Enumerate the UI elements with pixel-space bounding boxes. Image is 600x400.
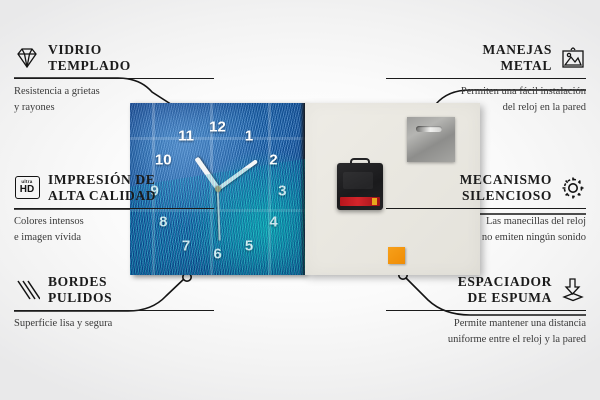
feature-description: Las manecillas del reloj no emiten ningú… xyxy=(386,214,586,244)
gear-icon xyxy=(560,175,586,201)
clock-numeral-1: 1 xyxy=(245,128,253,143)
feature-divider xyxy=(386,78,586,80)
feature-heading: BORDES PULIDOS xyxy=(14,274,214,306)
feature-description: Permiten una fácil instalación del reloj… xyxy=(386,84,586,114)
product-infographic: 12 1 2 3 4 5 6 7 8 9 10 11 xyxy=(0,0,600,400)
feature-desc-line2: e imagen vívida xyxy=(14,232,81,243)
quartz-mechanism xyxy=(337,163,383,210)
clock-minute-hand xyxy=(216,159,257,190)
feature-manejas-metal: MANEJAS METAL Permiten una fácil instala… xyxy=(386,42,586,115)
feature-title-line1: MANEJAS xyxy=(483,42,552,57)
feature-title-line1: MECANISMO xyxy=(460,172,552,187)
ultra-hd-badge: ultra HD xyxy=(15,176,40,199)
feature-title-line2: PULIDOS xyxy=(48,290,112,305)
metal-hanger-plate xyxy=(407,117,455,162)
feature-title-line2: DE ESPUMA xyxy=(467,290,552,305)
clock-numeral-2: 2 xyxy=(269,152,277,167)
feature-heading: MANEJAS METAL xyxy=(386,42,586,74)
feature-desc-line1: Las manecillas del reloj xyxy=(486,216,586,227)
clock-numeral-6: 6 xyxy=(213,247,221,262)
feature-title: ESPACIADOR DE ESPUMA xyxy=(458,274,552,306)
feature-divider xyxy=(14,78,214,80)
feature-title-line2: TEMPLADO xyxy=(48,58,131,73)
clock-numeral-4: 4 xyxy=(269,214,277,229)
feature-divider xyxy=(14,208,214,210)
feature-title: IMPRESIÓN DE ALTA CALIDAD xyxy=(48,172,156,204)
feature-desc-line1: Superficie lisa y segura xyxy=(14,318,112,329)
feature-bordes-pulidos: BORDES PULIDOS Superficie lisa y segura xyxy=(14,274,214,332)
feature-divider xyxy=(386,208,586,210)
feature-description: Colores intensos e imagen vívida xyxy=(14,214,214,244)
feature-divider xyxy=(14,310,214,312)
battery xyxy=(340,197,380,206)
feature-title-line1: IMPRESIÓN DE xyxy=(48,172,155,187)
feature-heading: ultra HD IMPRESIÓN DE ALTA CALIDAD xyxy=(14,172,214,204)
feature-desc-line1: Permiten una fácil instalación xyxy=(461,86,586,97)
feature-description: Resistencia a grietas y rayones xyxy=(14,84,214,114)
polished-edges-icon xyxy=(14,277,40,303)
feature-impresion-alta-calidad: ultra HD IMPRESIÓN DE ALTA CALIDAD Color… xyxy=(14,172,214,245)
feature-description: Superficie lisa y segura xyxy=(14,316,214,331)
clock-numeral-10: 10 xyxy=(155,152,172,167)
diamond-icon xyxy=(14,45,40,71)
mechanism-body-detail xyxy=(343,172,373,189)
feature-desc-line2: no emiten ningún sonido xyxy=(482,232,586,243)
feature-heading: ESPACIADOR DE ESPUMA xyxy=(386,274,586,306)
clock-second-hand xyxy=(217,189,220,241)
feature-vidrio-templado: VIDRIO TEMPLADO Resistencia a grietas y … xyxy=(14,42,214,115)
feature-divider xyxy=(386,310,586,312)
feature-title-line1: BORDES xyxy=(48,274,107,289)
feature-title-line1: ESPACIADOR xyxy=(458,274,552,289)
clock-center-pin xyxy=(215,186,221,192)
feature-heading: VIDRIO TEMPLADO xyxy=(14,42,214,74)
feature-desc-line2: y rayones xyxy=(14,102,55,113)
clock-numeral-12: 12 xyxy=(209,120,226,135)
feature-desc-line1: Permite mantener una distancia xyxy=(454,318,586,329)
ultra-hd-icon: ultra HD xyxy=(14,175,40,201)
feature-desc-line2: del reloj en la pared xyxy=(503,102,586,113)
feature-espaciador-espuma: ESPACIADOR DE ESPUMA Permite mantener un… xyxy=(386,274,586,347)
picture-hanger-icon xyxy=(560,45,586,71)
feature-title: VIDRIO TEMPLADO xyxy=(48,42,131,74)
ultra-hd-large-text: HD xyxy=(20,185,34,195)
foam-spacer-icon xyxy=(560,277,586,303)
feature-desc-line1: Resistencia a grietas xyxy=(14,86,100,97)
clock-numeral-5: 5 xyxy=(245,238,253,253)
feature-title-line1: VIDRIO xyxy=(48,42,102,57)
foam-spacer xyxy=(388,247,405,264)
clock-numeral-11: 11 xyxy=(178,128,194,143)
feature-title-line2: SILENCIOSO xyxy=(462,188,552,203)
feature-desc-line1: Colores intensos xyxy=(14,216,84,227)
feature-mecanismo-silencioso: MECANISMO SILENCIOSO Las manecillas del … xyxy=(386,172,586,245)
feature-heading: MECANISMO SILENCIOSO xyxy=(386,172,586,204)
clock-numeral-3: 3 xyxy=(278,183,286,198)
feature-title: BORDES PULIDOS xyxy=(48,274,112,306)
feature-title-line2: ALTA CALIDAD xyxy=(48,188,156,203)
feature-title: MECANISMO SILENCIOSO xyxy=(460,172,552,204)
feature-desc-line2: uniforme entre el reloj y la pared xyxy=(448,334,586,345)
feature-description: Permite mantener una distancia uniforme … xyxy=(386,316,586,346)
feature-title: MANEJAS METAL xyxy=(483,42,552,74)
mechanism-hanger-tab xyxy=(350,158,370,165)
feature-title-line2: METAL xyxy=(500,58,552,73)
